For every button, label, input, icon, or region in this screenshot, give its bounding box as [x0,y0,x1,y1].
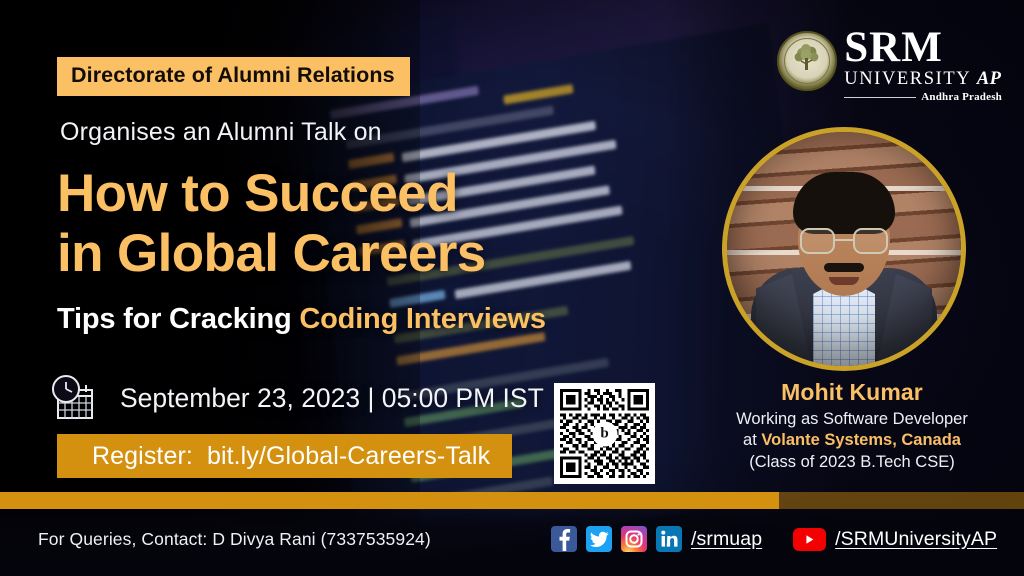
event-subtitle: Tips for Cracking Coding Interviews [57,303,546,336]
logo-university-word: UNIVERSITY [844,69,970,89]
divider-bar-right [779,492,1024,509]
event-subtitle-accent: Coding Interviews [299,303,545,335]
twitter-icon[interactable] [586,526,612,552]
logo-university-text: UNIVERSITY AP [844,69,1002,89]
calendar-clock-icon [48,372,102,424]
queries-contact: For Queries, Contact: D Divya Rani (7337… [38,529,431,550]
event-title-line1: How to Succeed [57,164,486,224]
divider-bar-left [0,492,779,509]
portrait-shading [727,132,961,366]
youtube-handle[interactable]: /SRMUniversityAP [835,528,997,551]
poster-canvas: Directorate of Alumni Relations Organise… [0,0,1024,576]
qr-pattern: b [560,389,649,478]
instagram-icon[interactable] [621,526,647,552]
event-subtitle-plain: Tips for Cracking [57,303,299,335]
social-handle[interactable]: /srmuap [691,528,762,551]
youtube-icon[interactable] [793,528,826,551]
speaker-company: Volante Systems, Canada [761,431,961,449]
event-datetime-text: September 23, 2023 | 05:00 PM IST [120,383,544,414]
register-label: Register: [92,442,193,471]
logo-state-row: Andhra Pradesh [844,91,1002,103]
speaker-company-prefix: at [743,431,761,449]
facebook-glyph [551,526,577,552]
speaker-portrait [722,127,966,371]
event-datetime-row: September 23, 2023 | 05:00 PM IST [48,372,544,424]
linkedin-icon[interactable] [656,526,682,552]
event-title: How to Succeed in Global Careers [57,164,486,284]
tree-emblem-icon [777,31,837,91]
speaker-name: Mohit Kumar [688,379,1016,406]
register-url[interactable]: bit.ly/Global-Careers-Talk [207,442,490,471]
logo-wordmark: SRM UNIVERSITY AP Andhra Pradesh [844,28,1002,103]
register-bar[interactable]: Register: bit.ly/Global-Careers-Talk [57,434,512,478]
directorate-badge: Directorate of Alumni Relations [57,57,410,96]
instagram-glyph [621,526,647,552]
facebook-icon[interactable] [551,526,577,552]
speaker-company-line: at Volante Systems, Canada [688,430,1016,450]
logo-divider-rule [844,97,916,98]
logo-state-text: Andhra Pradesh [921,91,1002,103]
twitter-glyph [586,526,612,552]
linkedin-glyph [656,526,682,552]
speaker-class: (Class of 2023 B.Tech CSE) [688,452,1016,472]
speaker-role: Working as Software Developer [688,409,1016,429]
youtube-glyph [793,528,826,551]
qr-brand-glyph: b [592,421,617,446]
event-title-line2: in Global Careers [57,224,486,284]
logo-ap-word: AP [977,69,1002,89]
speaker-portrait-image [727,132,961,366]
organises-line: Organises an Alumni Talk on [60,118,382,147]
qr-code[interactable]: b [554,383,655,484]
logo-srm-text: SRM [844,28,1002,68]
srm-logo: SRM UNIVERSITY AP Andhra Pradesh [777,28,1002,103]
emblem-tree-icon [790,42,824,76]
social-links: /srmuap /SRMUniversityAP [551,526,997,552]
